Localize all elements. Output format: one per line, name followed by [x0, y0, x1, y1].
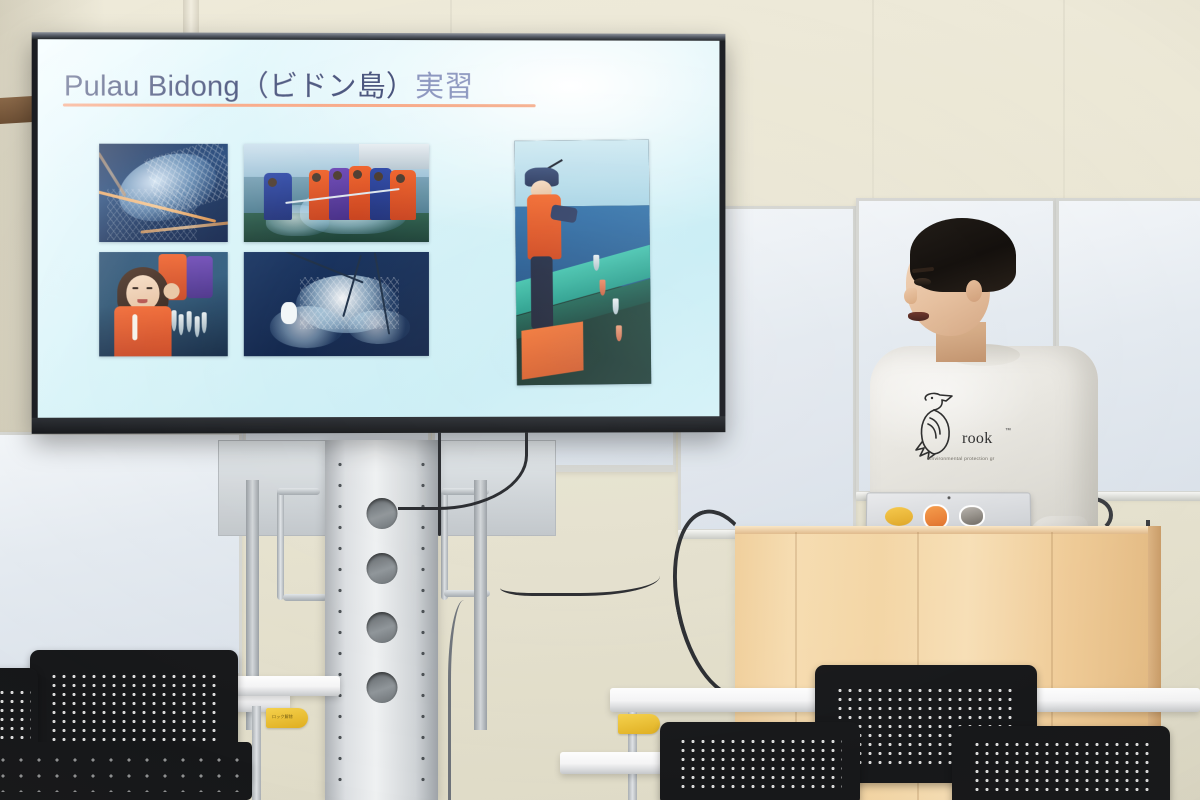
tv-cable-drop: [438, 432, 441, 536]
cart-cable-hole: [366, 498, 397, 529]
tv-bezel-bottom: [32, 416, 726, 434]
rook-bird-icon: [912, 390, 960, 462]
slide-title-suffix: 実習: [415, 71, 473, 103]
cart-handle-left-top: [277, 488, 320, 495]
slide-title-underline: [63, 104, 536, 108]
presenter-nose: [904, 288, 917, 304]
sweatshirt-graphic: rook ™ Environmental protection gr: [912, 390, 1016, 476]
desk-lock-lever: ロック解除: [266, 708, 308, 728]
sticker-yellow-oval: [885, 507, 913, 526]
cart-handle-left-bottom: [283, 594, 327, 601]
chair-mesh-pattern: [49, 672, 220, 751]
classroom-scene: Pulau Bidong（ビドン島）実習: [0, 0, 1200, 800]
chair-mesh-pattern: [972, 740, 1151, 793]
desk-lock-lever: [618, 714, 660, 734]
sweatshirt-trademark: ™: [1005, 428, 1011, 434]
laptop-camera: [947, 496, 950, 499]
flat-panel-tv[interactable]: Pulau Bidong（ビドン島）実習: [32, 32, 726, 434]
chair-mesh-pattern: [678, 737, 842, 791]
slide-title-main: Pulau Bidong（ビドン島）: [64, 70, 415, 103]
cart-perforation-strip: [338, 454, 342, 784]
sweatshirt-brand-text: rook: [962, 430, 993, 448]
cart-handle-left-post: [277, 488, 284, 600]
whiteboard-panel: [0, 432, 242, 680]
floor-cable: [500, 556, 660, 596]
cart-cable: [448, 600, 488, 800]
cart-cable-hole: [366, 553, 397, 584]
sticker-gray-shell: [959, 505, 985, 527]
presenter-ear: [966, 280, 982, 302]
tv-screen[interactable]: Pulau Bidong（ビドン島）実習: [38, 39, 720, 418]
chair-mesh-pattern: [0, 752, 246, 792]
sweatshirt-tagline: Environmental protection gr: [928, 456, 995, 461]
desk-leg: [252, 706, 261, 800]
slide-title: Pulau Bidong（ビドン島）実習: [64, 62, 473, 105]
slide-photo-4: [244, 252, 429, 356]
slide-photo-3: [99, 252, 228, 356]
slide-photo-5: [514, 140, 651, 386]
slide-photo-2: [244, 144, 429, 242]
slide-photo-1: [99, 144, 228, 242]
presenter-mouth: [908, 312, 929, 321]
lever-label: ロック解除: [272, 714, 293, 720]
cart-cable-hole: [366, 672, 397, 703]
cart-cable-hole: [366, 612, 397, 643]
chair: [660, 722, 860, 800]
chair-backrest: [952, 726, 1170, 800]
podium-top-edge: [735, 526, 1153, 534]
chair-backrest: [660, 722, 860, 800]
chair: [952, 726, 1170, 800]
presenter-eye: [914, 278, 931, 286]
